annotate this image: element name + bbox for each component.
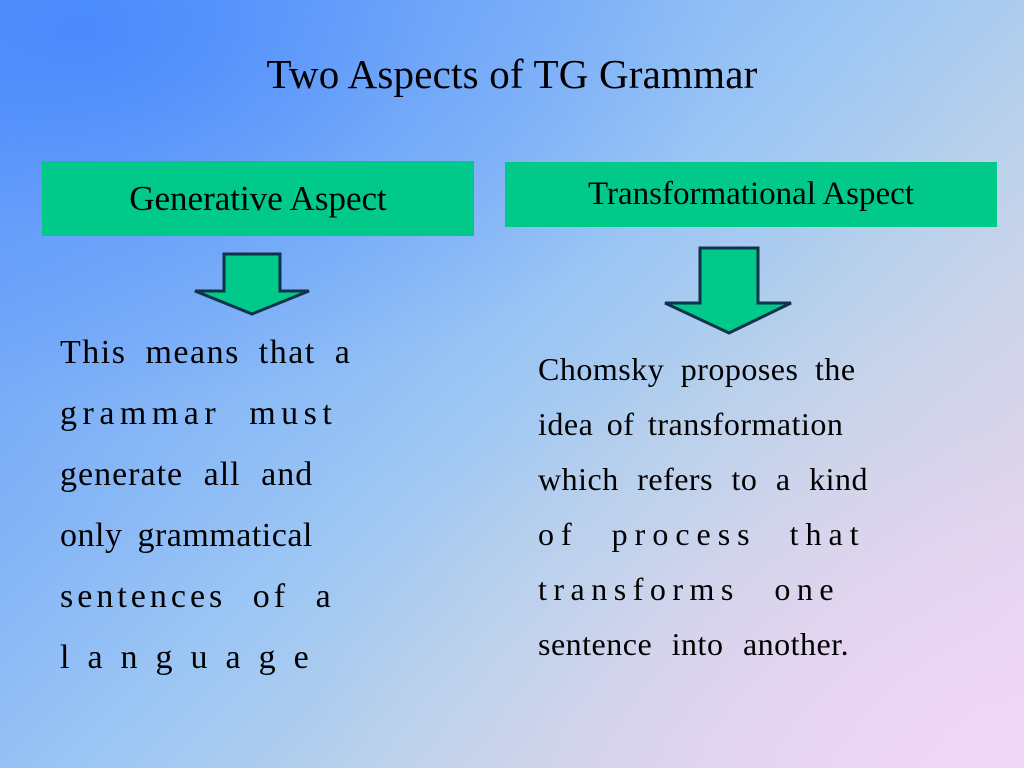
body-line: generate all and bbox=[60, 444, 460, 505]
body-line: sentences of a bbox=[60, 566, 460, 627]
body-line: which refers to a kind bbox=[538, 452, 976, 507]
body-line: idea of transformation bbox=[538, 397, 976, 452]
page-title: Two Aspects of TG Grammar bbox=[0, 52, 1024, 96]
body-line: This means that a bbox=[60, 322, 460, 383]
body-line: of process that bbox=[538, 507, 976, 562]
slide-canvas: Two Aspects of TG Grammar Generative Asp… bbox=[0, 0, 1024, 768]
down-arrow-icon bbox=[662, 246, 794, 336]
body-line: language bbox=[60, 627, 460, 688]
generative-aspect-body: This means that a grammar must generate … bbox=[60, 322, 460, 688]
body-line: Chomsky proposes the bbox=[538, 342, 976, 397]
down-arrow-shape bbox=[193, 252, 311, 316]
generative-aspect-label: Generative Aspect bbox=[129, 179, 387, 219]
body-line: grammar must bbox=[60, 383, 460, 444]
body-line: sentence into another. bbox=[538, 617, 976, 672]
generative-aspect-heading-box: Generative Aspect bbox=[42, 161, 474, 236]
transformational-aspect-body: Chomsky proposes the idea of transformat… bbox=[538, 342, 976, 672]
body-line: only grammatical bbox=[60, 505, 460, 566]
down-arrow-shape bbox=[662, 246, 794, 336]
transformational-aspect-heading-box: Transformational Aspect bbox=[505, 162, 997, 227]
transformational-aspect-label: Transformational Aspect bbox=[588, 176, 914, 213]
body-line: transforms one bbox=[538, 562, 976, 617]
down-arrow-icon bbox=[193, 252, 311, 316]
